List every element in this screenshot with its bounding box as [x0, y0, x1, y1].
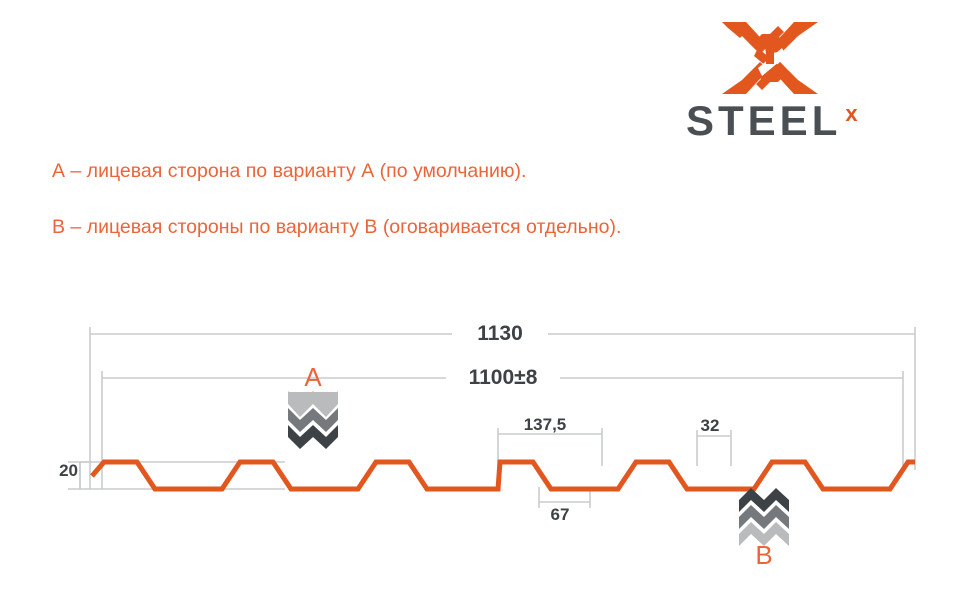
- variant-b-label: B: [744, 540, 784, 571]
- dimension-label-profile-height: 20: [44, 461, 78, 481]
- dimension-label-useful-width: 1100±8: [448, 366, 558, 390]
- corrugated-profile-path: [92, 462, 915, 489]
- dimension-label-crest-top: 32: [680, 416, 740, 436]
- profile-technical-drawing: [0, 0, 970, 597]
- dimension-label-total-width: 1130: [455, 322, 545, 346]
- chevron-up-triple-icon: [739, 488, 789, 546]
- dimension-label-pitch: 137,5: [500, 415, 590, 435]
- dimension-label-valley-flat: 67: [515, 505, 605, 525]
- variant-a-label: A: [293, 362, 333, 393]
- chevron-down-triple-icon: [288, 391, 338, 449]
